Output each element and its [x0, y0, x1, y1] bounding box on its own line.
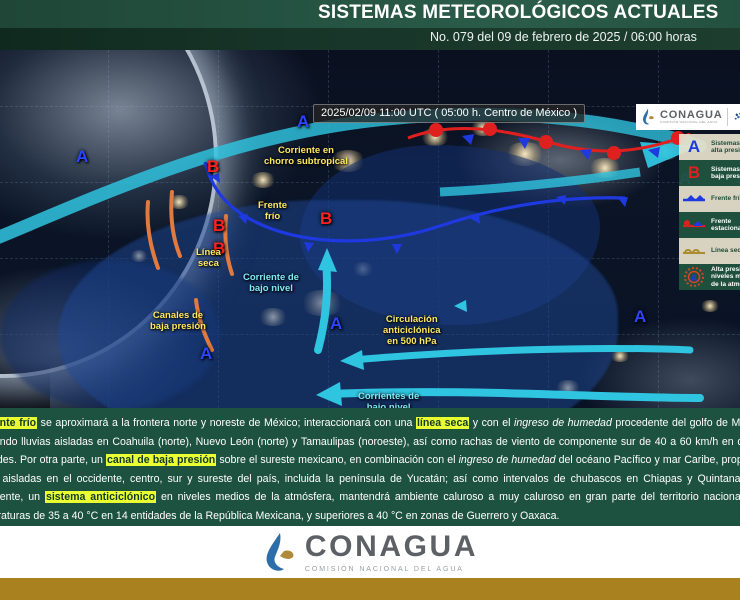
- legend-label-5: Alta presión en niveles medios de la atm…: [711, 266, 740, 288]
- legend-symbol-A-icon: A: [681, 136, 707, 158]
- satellite-weather-map: ABABBBAAAAB Corriente en chorro subtropi…: [0, 50, 740, 408]
- discussion-text-block: Un frente frío se aproximará a la fronte…: [0, 408, 740, 532]
- map-timestamp: 2025/02/09 11:00 UTC ( 05:00 h. Centro d…: [313, 104, 585, 123]
- legend-label-4: Línea seca: [711, 247, 740, 254]
- discussion-segment-2: se aproximará a la frontera norte y nore…: [37, 417, 416, 429]
- legend-symbol-cold-front-icon: [681, 188, 707, 210]
- page-title: SISTEMAS METEOROLÓGICOS ACTUALES: [318, 2, 719, 24]
- legend-label-2: Frente frío: [711, 195, 740, 202]
- discussion-segment-1: frente frío: [0, 417, 37, 429]
- footer-logo-text: CONAGUA COMISIÓN NACIONAL DEL AGUA: [305, 532, 478, 573]
- legend-row-3: Frente estacionario: [679, 212, 740, 238]
- weather-bulletin-page: SISTEMAS METEOROLÓGICOS ACTUALES No. 079…: [0, 0, 740, 600]
- legend-row-4: Línea seca: [679, 238, 740, 264]
- legend-symbol-B-icon: B: [681, 162, 707, 184]
- legend-row-2: Frente frío: [679, 186, 740, 212]
- pressure-marker-low-2: B: [320, 210, 332, 227]
- footer-logo-sub: COMISIÓN NACIONAL DEL AGUA: [305, 566, 478, 573]
- legend-symbol-dry-line-icon: [681, 240, 707, 262]
- conagua-map-logo-text: CONAGUA COMISIÓN NACIONAL DEL AGUA: [660, 110, 722, 124]
- map-legend: ASistemas de alta presiónBSistemas de ba…: [679, 134, 740, 290]
- legend-symbol-mid-level-high-icon: A: [681, 266, 707, 288]
- discussion-segment-5: ingreso de humedad: [514, 417, 612, 429]
- legend-symbol-stationary-front-icon: [681, 214, 707, 236]
- discussion-segment-4: y con el: [469, 417, 514, 429]
- pressure-marker-high-6: A: [634, 308, 646, 325]
- pressure-marker-low-3: B: [213, 217, 225, 234]
- footer-logo-name: CONAGUA: [305, 532, 478, 562]
- cold-front-line: [205, 162, 628, 254]
- legend-row-5: AAlta presión en niveles medios de la at…: [679, 264, 740, 290]
- water-drop-icon: [641, 108, 655, 126]
- pressure-marker-high-2: A: [297, 113, 309, 130]
- gold-accent-bar: [0, 578, 740, 600]
- discussion-segment-8: sobre el sureste mexicano, en combinació…: [216, 454, 458, 466]
- pressure-marker-high-4: A: [200, 345, 212, 362]
- discussion-segment-7: canal de baja presión: [106, 454, 216, 466]
- subheader-bar: No. 079 del 09 de febrero de 2025 / 06:0…: [0, 28, 740, 50]
- footer-water-drop-icon: [262, 531, 296, 573]
- pressure-marker-low-4: B: [213, 240, 225, 257]
- smn-emblem-icon: [733, 107, 740, 127]
- pressure-marker-high-1: A: [76, 148, 88, 165]
- pressure-marker-high-5: A: [330, 315, 342, 332]
- bulletin-number-date: No. 079 del 09 de febrero de 2025 / 06:0…: [430, 30, 697, 44]
- legend-label-0: Sistemas de alta presión: [711, 140, 740, 155]
- conagua-map-logo: CONAGUA COMISIÓN NACIONAL DEL AGUA: [636, 104, 740, 130]
- svg-text:A: A: [691, 273, 698, 283]
- discussion-segment-3: línea seca: [416, 417, 469, 429]
- legend-row-1: BSistemas de baja presión: [679, 160, 740, 186]
- legend-row-0: ASistemas de alta presión: [679, 134, 740, 160]
- discussion-segment-9: ingreso de humedad: [459, 454, 556, 466]
- header-bar: SISTEMAS METEOROLÓGICOS ACTUALES: [0, 0, 740, 28]
- pressure-marker-low-1: B: [207, 158, 219, 175]
- logo-divider: [727, 108, 728, 126]
- conagua-map-logo-sub: COMISIÓN NACIONAL DEL AGUA: [660, 121, 722, 124]
- discussion-paragraph: Un frente frío se aproximará a la fronte…: [0, 414, 740, 526]
- footer-logo-bar: CONAGUA COMISIÓN NACIONAL DEL AGUA: [0, 526, 740, 578]
- legend-label-3: Frente estacionario: [711, 218, 740, 233]
- discussion-segment-11: sistema anticiclónico: [45, 491, 156, 503]
- legend-label-1: Sistemas de baja presión: [711, 166, 740, 181]
